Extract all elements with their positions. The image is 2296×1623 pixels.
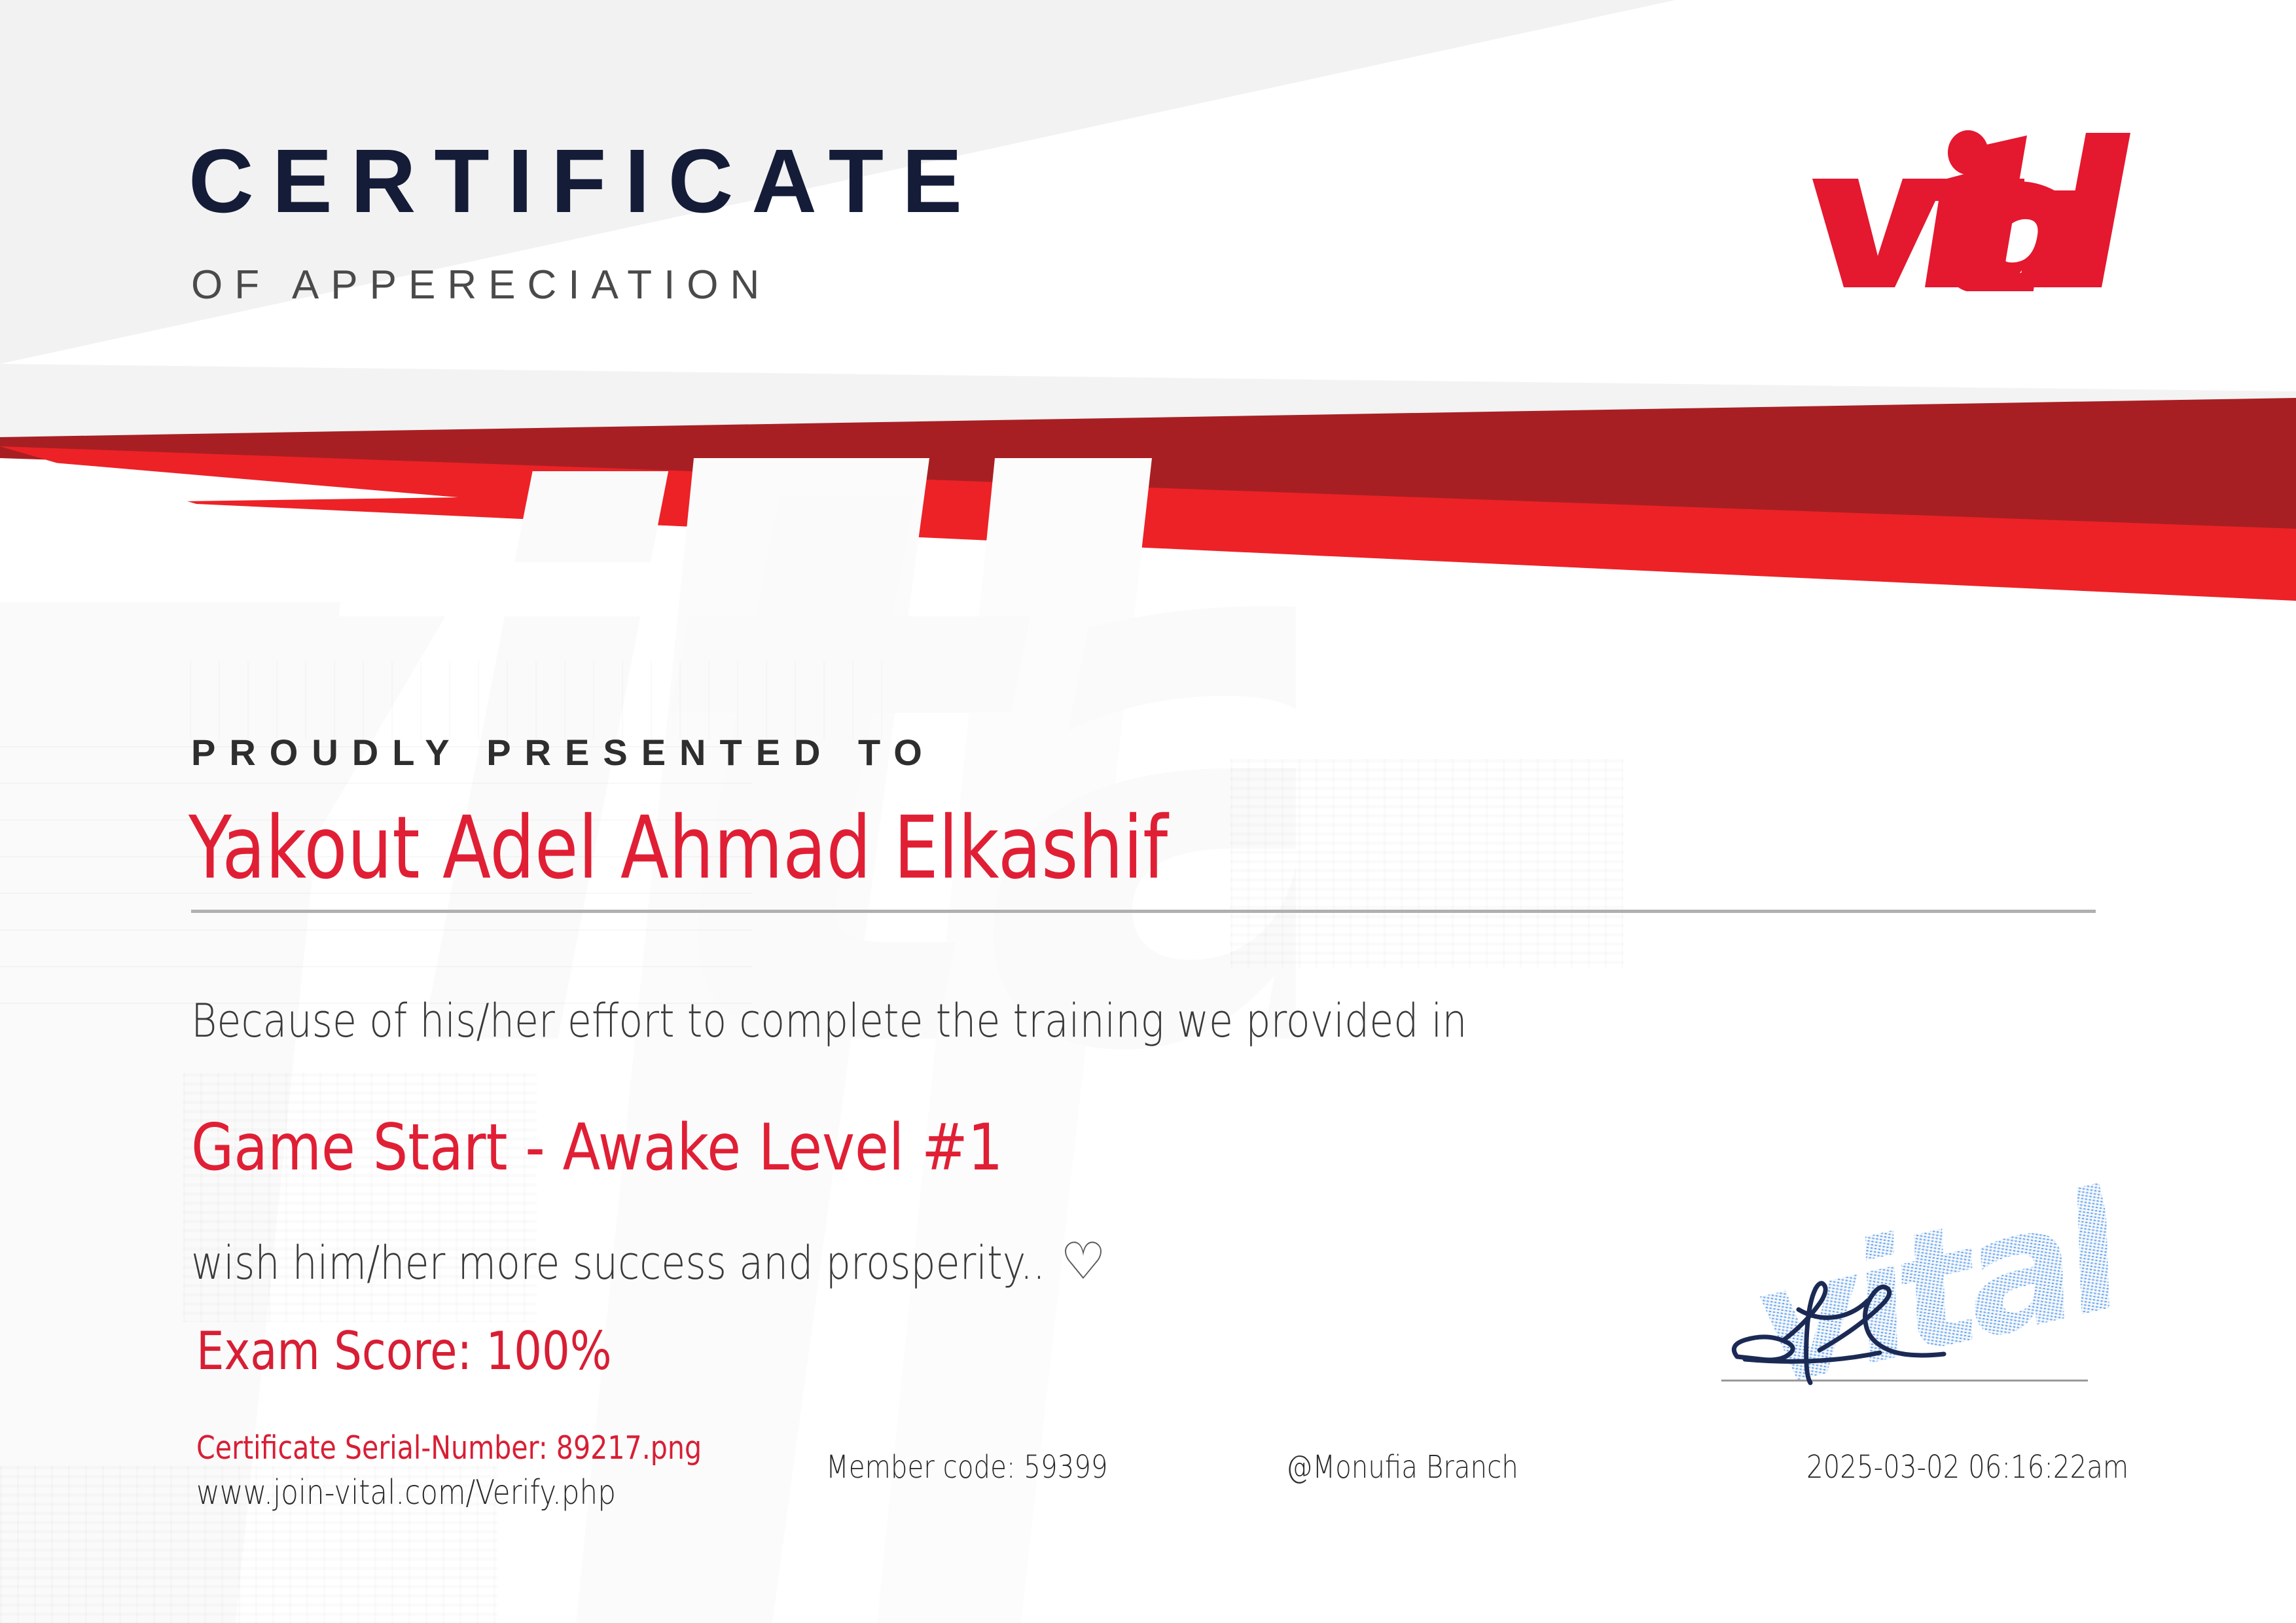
verify-url[interactable]: www.join-vital.com/Verify.php [196, 1476, 616, 1510]
issued-timestamp: 2025-03-02 06:16:22am [1806, 1452, 2128, 1483]
heart-icon: ♡ [1060, 1236, 1106, 1287]
handwritten-signature-icon [1721, 1247, 2003, 1397]
signature-line [1721, 1380, 2088, 1382]
stamp-text: vital [1739, 1169, 2149, 1482]
presented-to-label: PROUDLY PRESENTED TO [191, 734, 936, 771]
member-code: Member code: 59399 [826, 1452, 1108, 1483]
wish-text: wish him/her more success and prosperity… [191, 1240, 1045, 1286]
code-texture-right [1230, 759, 1623, 969]
reason-text: Because of his/her effort to complete th… [191, 998, 1467, 1044]
certificate-page: vital CERTIFICATE OF APPERECIATION [0, 0, 2296, 1623]
course-title: Game Start - Awake Level #1 [191, 1116, 1003, 1180]
page-subtitle: OF APPERECIATION [191, 265, 771, 306]
recipient-name-underline [191, 910, 2096, 913]
branch-name: @Monufia Branch [1286, 1452, 1518, 1483]
vital-logo-icon [1790, 128, 2144, 291]
recipient-name: Yakout Adel Ahmad Elkashif [188, 805, 1168, 891]
code-texture-top [190, 661, 884, 740]
certificate-serial-number: Certificate Serial-Number: 89217.png [196, 1432, 702, 1464]
exam-score: Exam Score: 100% [196, 1325, 612, 1378]
vital-rubber-stamp-icon: vital [1761, 1207, 2166, 1469]
page-title: CERTIFICATE [188, 136, 980, 226]
